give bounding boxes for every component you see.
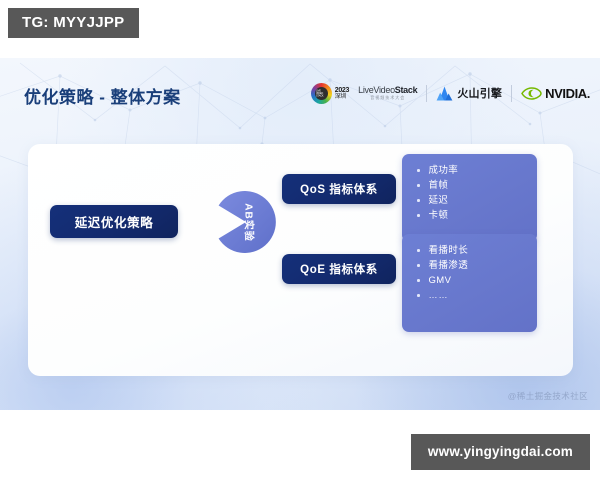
qos-metrics-label: QoS 指标体系 <box>300 181 378 197</box>
list-item-label: 卡顿 <box>429 211 449 221</box>
lvs-video-text: Video <box>373 85 394 95</box>
list-item-label: 延迟 <box>429 196 449 206</box>
list-item: …… <box>402 288 537 303</box>
conference-logo: LIVE VIDEO STACK 2023 深圳 <box>311 83 349 104</box>
qos-metrics-box: QoS 指标体系 <box>282 174 396 204</box>
list-item: 首帧 <box>402 178 537 193</box>
qos-items-panel: 成功率 首帧 延迟 卡顿 <box>402 154 537 242</box>
bullet-dot-icon <box>417 214 420 217</box>
nvidia-eye-icon <box>521 86 542 101</box>
bullet-dot-icon <box>417 279 420 282</box>
bullet-dot-icon <box>417 184 420 187</box>
list-item: 看播时长 <box>402 243 537 258</box>
list-item: 卡顿 <box>402 208 537 223</box>
list-item-label: 看播渗透 <box>429 261 469 271</box>
qoe-metrics-box: QoE 指标体系 <box>282 254 396 284</box>
bullet-dot-icon <box>417 249 420 252</box>
bullet-dot-icon <box>417 199 420 202</box>
list-item: GMV <box>402 273 537 288</box>
list-item-label: 首帧 <box>429 181 449 191</box>
presentation-slide: 优化策略 - 整体方案 LIVE VIDEO STACK 2023 深圳 Liv… <box>0 58 600 410</box>
list-item-label: 成功率 <box>429 166 459 176</box>
nvidia-logo: NVIDIA. <box>521 86 590 101</box>
bullet-dot-icon <box>417 264 420 267</box>
list-item: 延迟 <box>402 193 537 208</box>
bullet-dot-icon <box>417 169 420 172</box>
list-item-label: …… <box>429 291 449 300</box>
conference-ring-label: LIVE VIDEO STACK <box>316 89 327 97</box>
conference-year: 2023 <box>335 87 349 94</box>
slide-title: 优化策略 - 整体方案 <box>24 83 181 108</box>
livevideostack-wordmark: LiveVideoStack <box>358 86 417 95</box>
lvs-stack-text: Stack <box>395 85 418 95</box>
conference-year-block: 2023 深圳 <box>335 87 349 100</box>
nvidia-label: NVIDIA. <box>545 86 590 101</box>
volcano-engine-label: 火山引擎 <box>457 85 502 101</box>
conference-ring-icon: LIVE VIDEO STACK <box>311 83 332 104</box>
sponsor-logo-bar: LIVE VIDEO STACK 2023 深圳 LiveVideoStack … <box>311 78 590 108</box>
qoe-items-panel: 看播时长 看播渗透 GMV …… <box>402 234 537 332</box>
slide-watermark: @稀土掘金技术社区 <box>508 390 588 402</box>
livevideostack-logo: LiveVideoStack 音视频技术大会 <box>358 86 417 100</box>
lvs-live-text: Live <box>358 85 373 95</box>
ab-experiment-wedge-icon <box>215 191 277 253</box>
list-item: 看播渗透 <box>402 258 537 273</box>
volcano-mountain-icon <box>436 86 453 101</box>
conference-city: 深圳 <box>335 94 349 100</box>
list-item-label: GMV <box>429 276 452 286</box>
volcano-engine-logo: 火山引擎 <box>436 85 502 101</box>
root-strategy-label: 延迟优化策略 <box>75 212 154 231</box>
qoe-metrics-label: QoE 指标体系 <box>300 261 378 277</box>
logo-divider <box>426 85 427 102</box>
list-item-label: 看播时长 <box>429 246 469 256</box>
website-url-banner: www.yingyingdai.com <box>411 434 590 471</box>
bullet-dot-icon <box>417 294 420 297</box>
list-item: 成功率 <box>402 163 537 178</box>
livevideostack-subtitle: 音视频技术大会 <box>370 96 405 100</box>
root-strategy-box: 延迟优化策略 <box>50 205 178 238</box>
tg-handle-badge: TG: MYYJJPP <box>8 8 139 38</box>
logo-divider-2 <box>511 85 512 102</box>
